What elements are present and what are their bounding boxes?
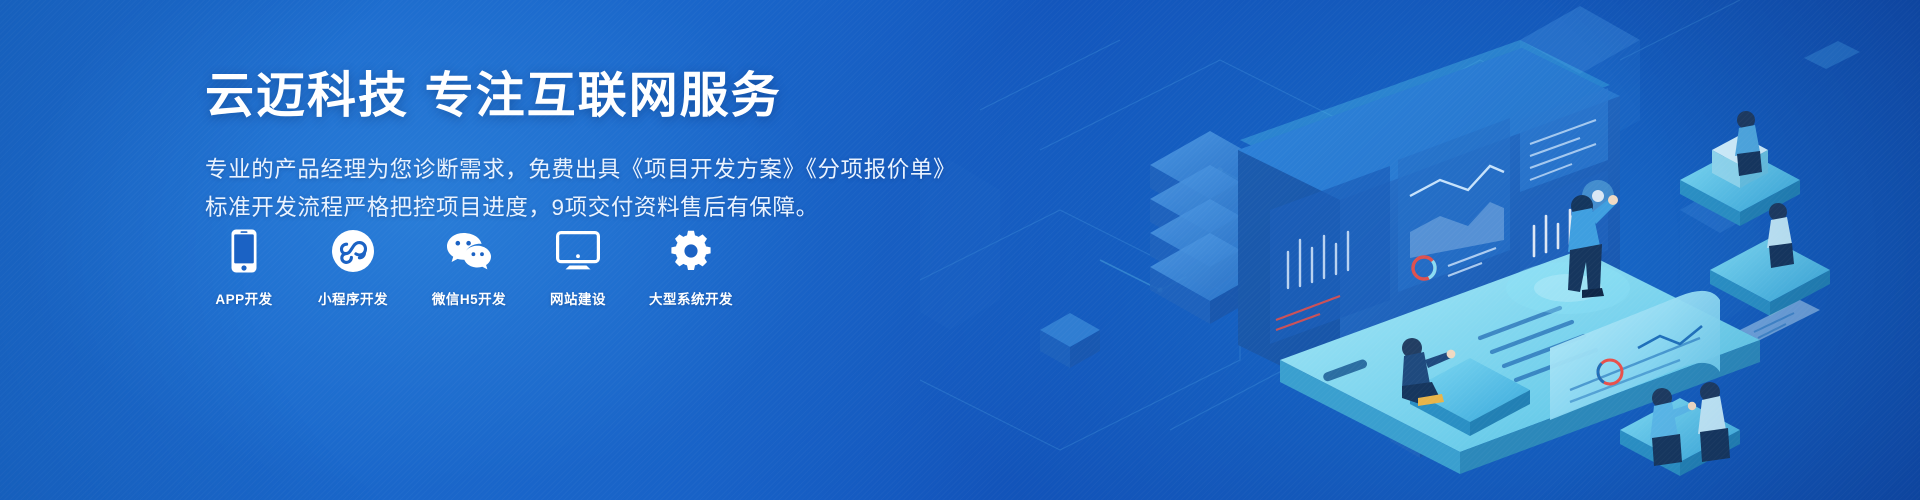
- promo-banner: 云迈科技 专注互联网服务 专业的产品经理为您诊断需求，免费出具《项目开发方案》《…: [0, 0, 1920, 500]
- wechat-icon: [445, 228, 493, 274]
- service-item-website[interactable]: 网站建设: [539, 228, 617, 308]
- service-label-app: APP开发: [215, 288, 272, 308]
- gear-icon: [670, 228, 712, 274]
- monitor-icon: [556, 228, 600, 274]
- service-label-wechat-h5: 微信H5开发: [432, 288, 506, 308]
- banner-subtitle-line-2: 标准开发流程严格把控项目进度，9项交付资料售后有保障。: [205, 190, 925, 226]
- service-item-app[interactable]: APP开发: [205, 228, 283, 308]
- mobile-phone-icon: [231, 228, 257, 274]
- service-label-website: 网站建设: [550, 288, 606, 308]
- service-item-large-system[interactable]: 大型系统开发: [641, 228, 741, 308]
- service-item-wechat-h5[interactable]: 微信H5开发: [423, 228, 515, 308]
- service-item-mini-program[interactable]: 小程序开发: [307, 228, 399, 308]
- service-label-mini-program: 小程序开发: [318, 288, 388, 308]
- mini-program-icon: [332, 228, 374, 274]
- service-icon-row: APP开发 小程序开发: [205, 228, 741, 308]
- banner-subtitle-line-1: 专业的产品经理为您诊断需求，免费出具《项目开发方案》《分项报价单》: [205, 152, 925, 188]
- service-label-large-system: 大型系统开发: [649, 288, 733, 308]
- banner-headline: 云迈科技 专注互联网服务: [205, 68, 925, 126]
- banner-copy: 云迈科技 专注互联网服务 专业的产品经理为您诊断需求，免费出具《项目开发方案》《…: [205, 68, 925, 227]
- isometric-tech-illustration: [920, 0, 1920, 500]
